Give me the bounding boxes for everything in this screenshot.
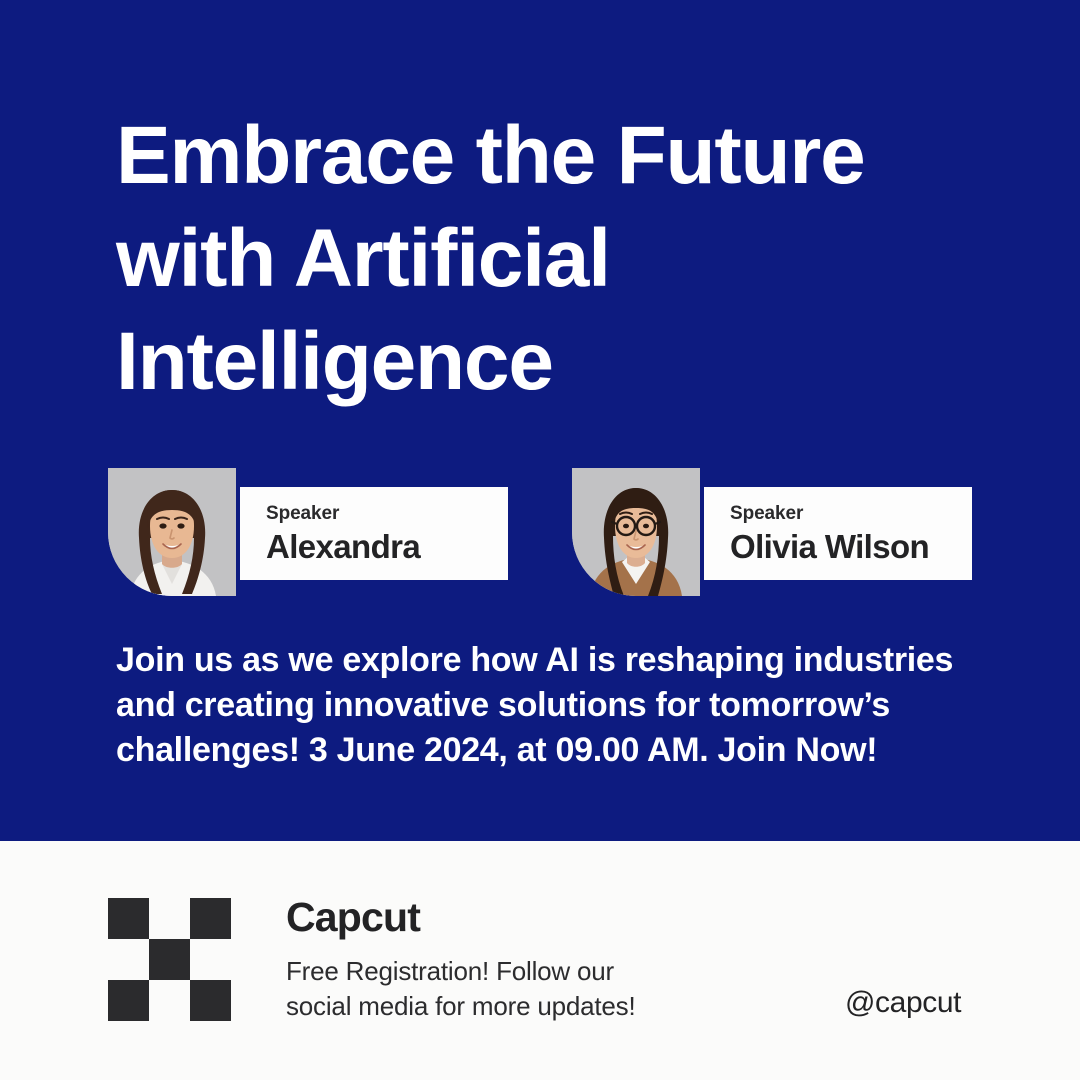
logo-cell-1	[149, 898, 190, 939]
headline-line-1: Embrace the Future	[116, 104, 996, 207]
tagline-line-2: social media for more updates!	[286, 989, 726, 1024]
description-line-1: Join us as we explore how AI is reshapin…	[116, 638, 1016, 683]
speaker-photo-olivia-wilson	[572, 468, 700, 596]
speaker-role-label: Speaker	[266, 503, 508, 525]
speaker-name: Alexandra	[266, 526, 508, 568]
speaker-plate-alexandra: Speaker Alexandra	[240, 487, 508, 580]
speaker-name: Olivia Wilson	[730, 526, 972, 568]
brand-block: Capcut Free Registration! Follow our soc…	[286, 893, 726, 1024]
tagline-line-1: Free Registration! Follow our	[286, 954, 726, 989]
logo-cell-2	[190, 898, 231, 939]
logo-cell-5	[190, 939, 231, 980]
brand-tagline: Free Registration! Follow our social med…	[286, 954, 726, 1024]
description-line-2: and creating innovative solutions for to…	[116, 683, 1016, 728]
speaker-list: Speaker Alexandra	[108, 468, 988, 598]
headline-line-2: with Artificial	[116, 207, 996, 310]
brand-name: Capcut	[286, 893, 726, 941]
social-handle[interactable]: @capcut	[845, 985, 961, 1021]
logo-cell-7	[149, 980, 190, 1021]
page-title: Embrace the Future with Artificial Intel…	[116, 104, 996, 413]
speaker-card-alexandra: Speaker Alexandra	[108, 468, 508, 598]
logo-cell-4	[149, 939, 190, 980]
event-description: Join us as we explore how AI is reshapin…	[116, 638, 1016, 773]
logo-cell-3	[108, 939, 149, 980]
checkerboard-logo-icon	[108, 898, 231, 1021]
description-line-3: challenges! 3 June 2024, at 09.00 AM. Jo…	[116, 728, 1016, 773]
logo-cell-8	[190, 980, 231, 1021]
speaker-card-olivia-wilson: Speaker Olivia Wilson	[572, 468, 972, 598]
poster-canvas: Embrace the Future with Artificial Intel…	[0, 0, 1080, 1080]
speaker-plate-olivia-wilson: Speaker Olivia Wilson	[704, 487, 972, 580]
logo-cell-0	[108, 898, 149, 939]
headline-line-3: Intelligence	[116, 310, 996, 413]
speaker-photo-alexandra	[108, 468, 236, 596]
logo-cell-6	[108, 980, 149, 1021]
speaker-role-label: Speaker	[730, 503, 972, 525]
